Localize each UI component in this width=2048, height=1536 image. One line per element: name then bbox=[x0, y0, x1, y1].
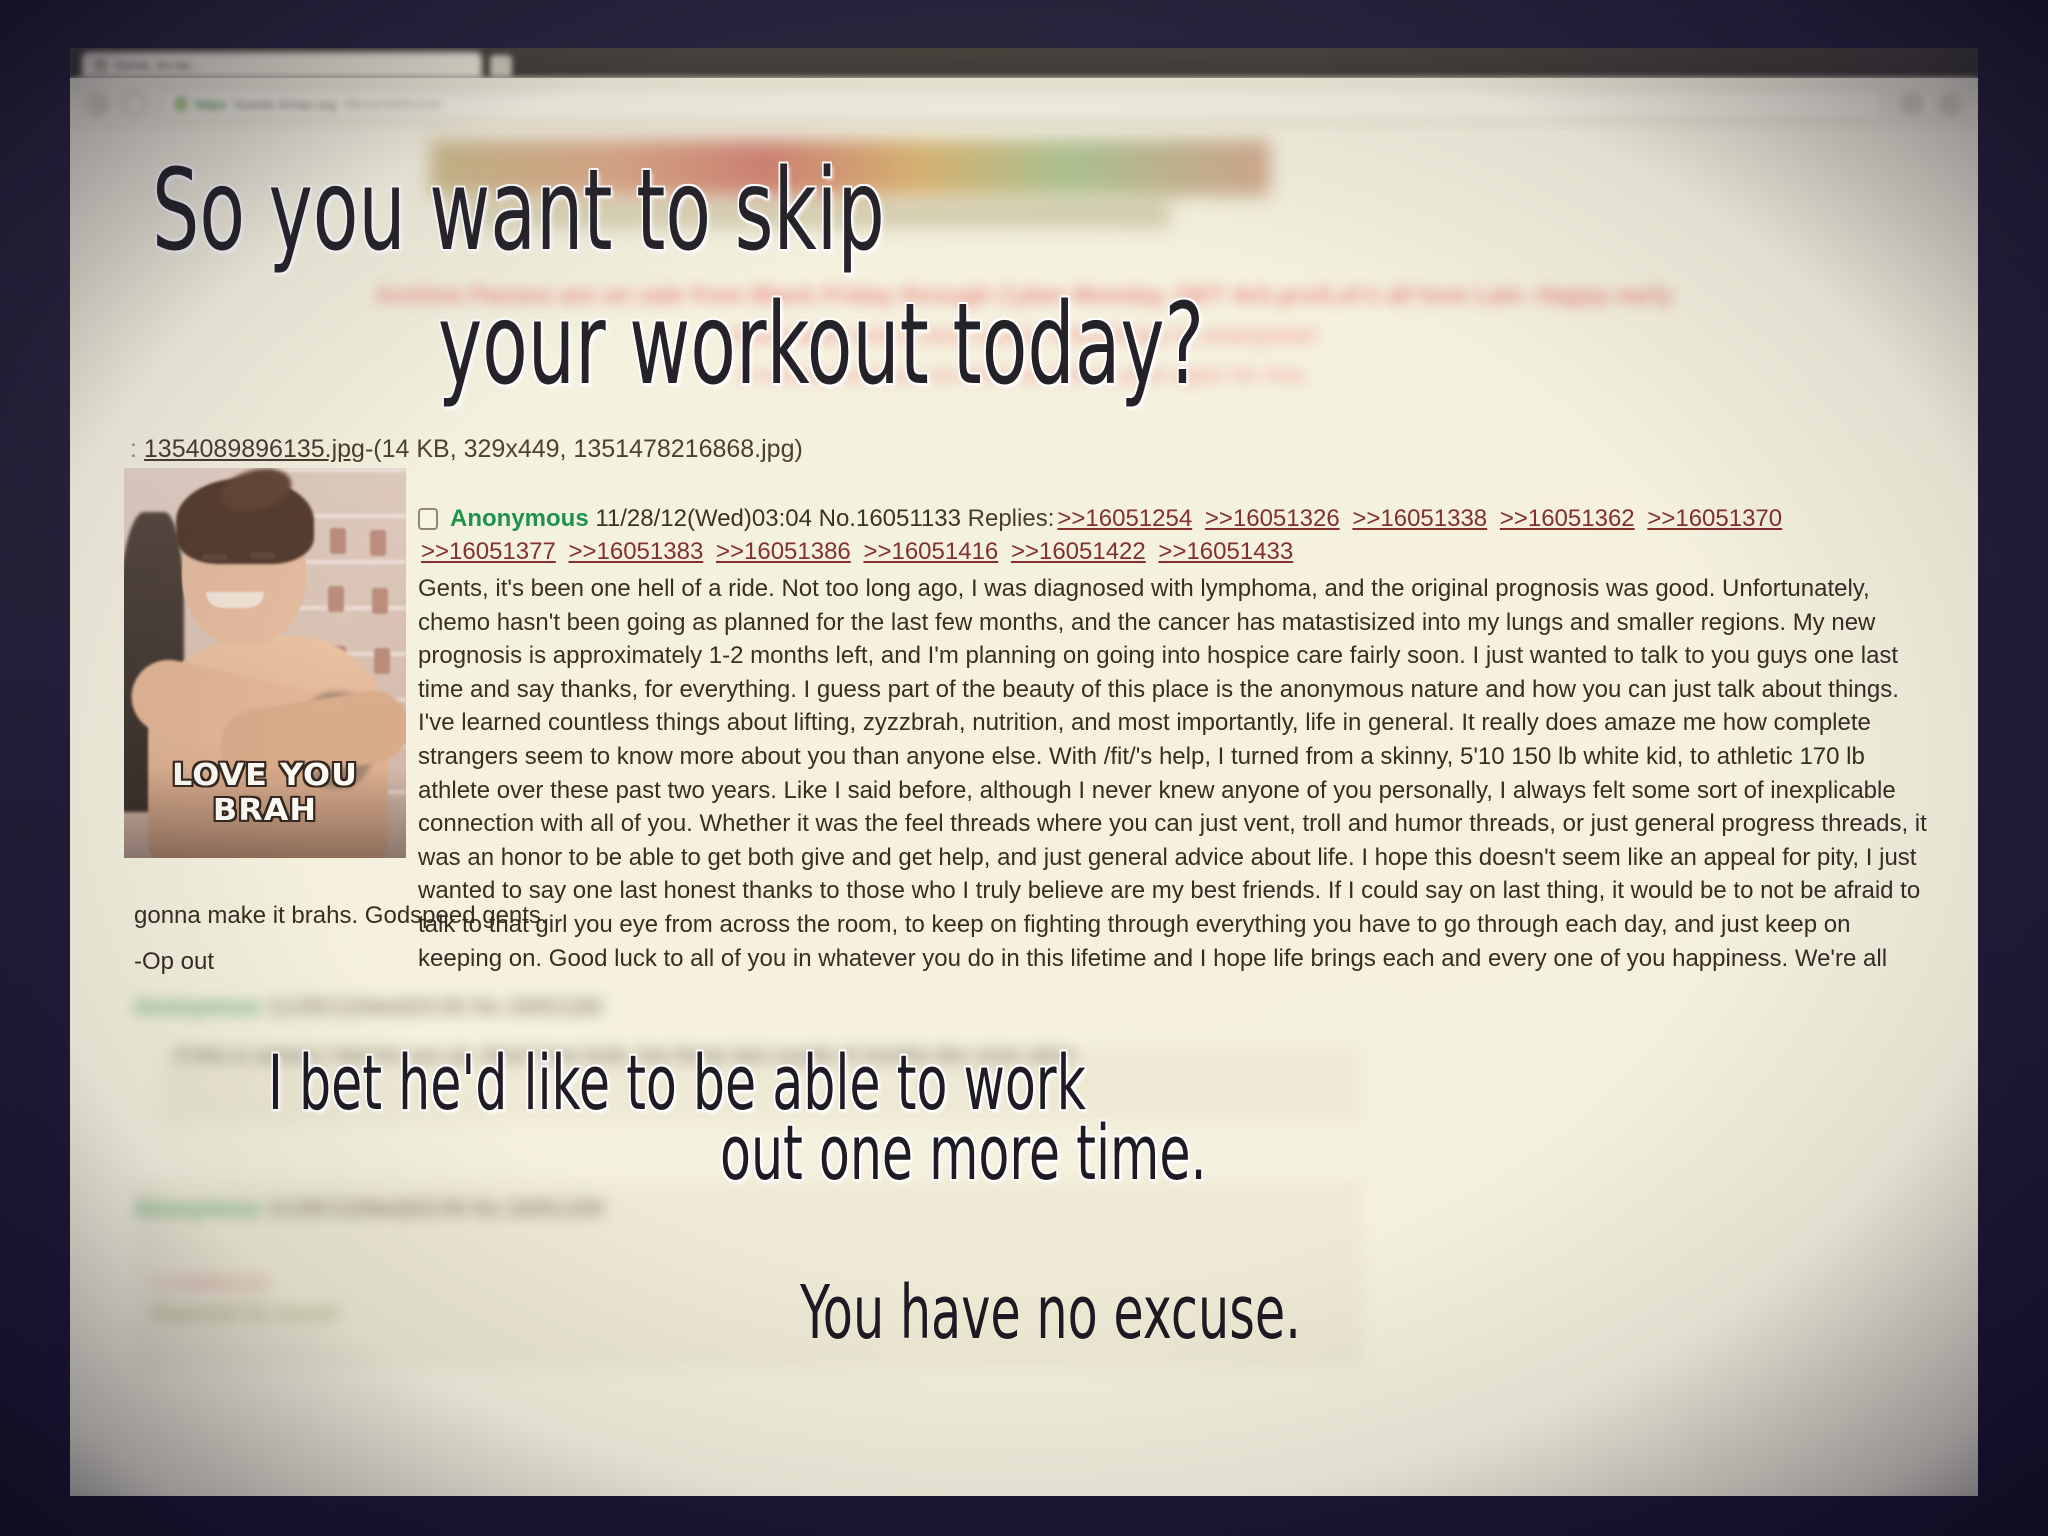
reply-quote-link[interactable]: >>16051433 bbox=[1158, 538, 1293, 565]
browser-titlebar: Gents, it's be... bbox=[70, 48, 1978, 78]
file-name-link[interactable]: 1354089896135.jpg bbox=[144, 435, 365, 463]
url-scheme: https bbox=[195, 97, 227, 112]
browser-tab[interactable]: Gents, it's be... bbox=[82, 52, 482, 78]
lock-icon bbox=[175, 97, 187, 111]
reply-quote-link[interactable]: >>16051254 bbox=[1057, 505, 1192, 532]
reply-poster-name: Anonymous bbox=[134, 1196, 261, 1221]
reply-quote-link[interactable]: >>16051377 bbox=[421, 538, 556, 565]
op-image-thumbnail[interactable]: LOVE YOU BRAH bbox=[124, 468, 406, 858]
reply-header: Anonymous 11/28/12(Wed)03:06 No.16051180 bbox=[134, 994, 1079, 1020]
url-path: /fit/res/16051133 bbox=[344, 97, 440, 112]
reload-icon[interactable] bbox=[122, 92, 146, 116]
op-post-body-tail: gonna make it brahs. Godspeed gents. bbox=[134, 899, 1934, 933]
macro-text-line-4: out one more time. bbox=[720, 1108, 1207, 1197]
macro-text-line-5: You have no excuse. bbox=[800, 1270, 1301, 1356]
reply-body-text: Reported for suicide bbox=[152, 1302, 604, 1326]
browser-toolbar: https boards.4chan.org /fit/res/16051133 bbox=[70, 78, 1978, 130]
star-icon[interactable] bbox=[1900, 92, 1924, 116]
tab-title: Gents, it's be... bbox=[115, 58, 201, 73]
meme-image-root: Gents, it's be... https boards.4chan.org… bbox=[0, 0, 2048, 1536]
reply-quote-link[interactable]: >>16051370 bbox=[1647, 505, 1782, 532]
file-meta: -(14 KB, 329x449, 1351478216868.jpg) bbox=[365, 435, 803, 463]
reply-header: Anonymous 11/28/12(Wed)03:09 No.16051206 bbox=[134, 1196, 604, 1222]
reply-poster-name: Anonymous bbox=[134, 994, 261, 1019]
replies-label: Replies: bbox=[968, 505, 1055, 532]
favicon-icon bbox=[94, 59, 107, 72]
poster-name: Anonymous bbox=[450, 505, 589, 532]
reply-quote-link[interactable]: >>16051386 bbox=[716, 538, 851, 565]
reply-post: Anonymous 11/28/12(Wed)03:09 No.16051206… bbox=[134, 1196, 604, 1326]
reply-quote-link[interactable]: >>16051416 bbox=[863, 538, 998, 565]
new-tab-button[interactable] bbox=[490, 55, 512, 77]
reply-meta: 11/28/12(Wed)03:06 No.16051180 bbox=[267, 994, 602, 1019]
post-checkbox[interactable] bbox=[418, 508, 438, 530]
url-host: boards.4chan.org bbox=[235, 97, 336, 112]
file-info-line: : 1354089896135.jpg-(14 KB, 329x449, 135… bbox=[130, 435, 803, 464]
address-bar[interactable]: https boards.4chan.org /fit/res/16051133 bbox=[164, 90, 1882, 118]
macro-text-line-1: So you want to skip bbox=[152, 146, 885, 276]
post-number[interactable]: No.16051133 bbox=[819, 505, 961, 532]
back-arrow-icon[interactable] bbox=[86, 92, 110, 116]
file-info-prefix: : bbox=[130, 435, 144, 463]
op-signature: -Op out bbox=[134, 948, 214, 976]
post-timestamp: 11/28/12(Wed)03:04 bbox=[595, 505, 812, 532]
reply-quote-link[interactable]: >>16051326 bbox=[1205, 505, 1340, 532]
op-post-header: Anonymous 11/28/12(Wed)03:04 No.16051133… bbox=[418, 502, 1918, 568]
reply-meta: 11/28/12(Wed)03:09 No.16051206 bbox=[267, 1196, 604, 1221]
reply-quote-link[interactable]: >>16051338 bbox=[1352, 505, 1487, 532]
hamburger-menu-icon[interactable] bbox=[1938, 92, 1962, 116]
reply-quote-link[interactable]: >>16051383 bbox=[568, 538, 703, 565]
reply-quote-link: >>16051133 bbox=[152, 1272, 604, 1296]
reply-quote-link[interactable]: >>16051422 bbox=[1011, 538, 1146, 565]
thumbnail-caption: LOVE YOU BRAH bbox=[124, 758, 406, 828]
reply-quote-link[interactable]: >>16051362 bbox=[1500, 505, 1635, 532]
macro-text-line-2: your workout today? bbox=[438, 280, 1204, 410]
